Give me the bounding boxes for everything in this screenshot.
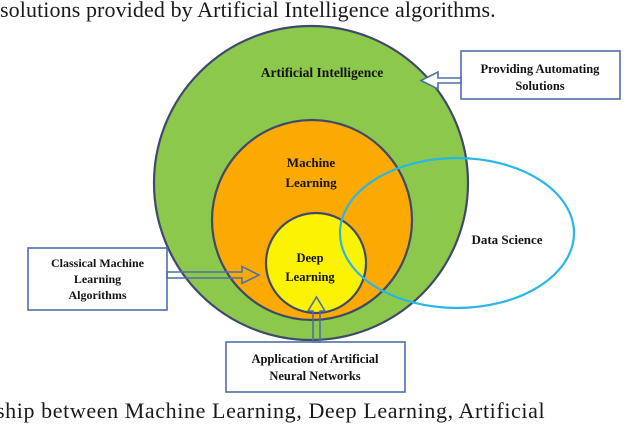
callout-box-application-of-artificial-neural-networks[interactable] [226, 342, 405, 392]
callout-line-solutions: Solutions [515, 79, 564, 93]
callout-line-algorithms: Algorithms [69, 288, 127, 302]
callout-line-classical-machine: Classical Machine [51, 256, 145, 270]
callout-line-learning: Learning [74, 272, 121, 286]
callout-line-neural-networks: Neural Networks [269, 369, 360, 383]
body-text-line-below: ship between Machine Learning, Deep Lear… [0, 398, 545, 424]
artificial-intelligence-label: Artificial Intelligence [261, 65, 384, 80]
deep-learning-label-line2: Learning [285, 270, 335, 284]
machine-learning-label-line2: Learning [285, 175, 337, 190]
callout-line-providing-automating: Providing Automating [481, 62, 601, 76]
data-science-label: Data Science [471, 232, 542, 247]
machine-learning-label-line1: Machine [287, 155, 336, 170]
callout-line-application-of-artificial: Application of Artificial [251, 352, 379, 366]
figure-page: solutions provided by Artificial Intelli… [0, 0, 640, 421]
callout-providing-automating-solutions[interactable]: Providing Automating Solutions [421, 51, 620, 99]
deep-learning-label-line1: Deep [296, 251, 323, 265]
venn-diagram-figure: Artificial Intelligence Machine Learning… [0, 0, 640, 421]
